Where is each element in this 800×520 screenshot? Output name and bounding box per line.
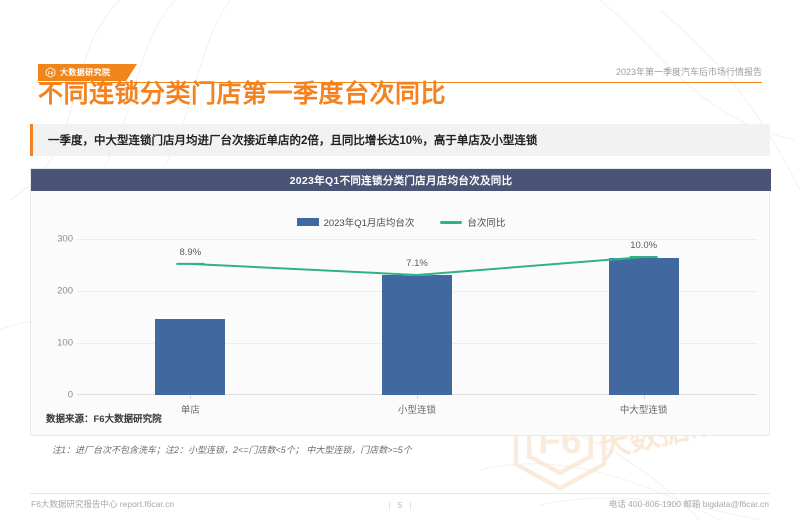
- chart-card: 2023年Q1不同连锁分类门店月店均台次及同比 2023年Q1月店均台次 台次同…: [30, 168, 770, 436]
- page-title: 不同连锁分类门店第一季度台次同比: [38, 74, 446, 110]
- footer-bar-left-icon: |: [388, 500, 390, 510]
- y-axis-tick-label: 200: [33, 286, 73, 297]
- subtitle-accent-bar: [30, 124, 33, 156]
- legend-swatch-line-icon: [440, 221, 462, 224]
- report-name: 2023年第一季度汽车后市场行情报告: [616, 65, 762, 78]
- x-axis-tick-label: 中大型连锁: [620, 402, 668, 416]
- footer-contact: 电话 400-806-1900 邮箱 bigdata@f6car.cn: [609, 498, 769, 510]
- legend-label-bar: 2023年Q1月店均台次: [324, 215, 415, 229]
- legend-swatch-bar-icon: [297, 218, 319, 226]
- x-tick-group: 中大型连锁: [530, 239, 757, 395]
- data-source: 数据来源：F6大数据研究院: [46, 411, 162, 425]
- chart-legend: 2023年Q1月店均台次 台次同比: [31, 215, 771, 229]
- header: F6 大数据研究院 2023年第一季度汽车后市场行情报告: [0, 28, 800, 60]
- page-number: 5: [398, 500, 403, 510]
- x-tick-mark: [644, 395, 645, 399]
- y-axis-tick-label: 300: [33, 234, 73, 245]
- x-tick-mark: [190, 395, 191, 399]
- chart-title: 2023年Q1不同连锁分类门店月店均台次及同比: [290, 173, 513, 188]
- chart-footnote: 注1：进厂台次不包含洗车；注2：小型连锁，2<=门店数<5个； 中大型连锁，门店…: [52, 443, 412, 456]
- footer-bar-right-icon: |: [409, 500, 411, 510]
- slide-page: F6 大数据 F6 大数据研究 F6 大数据研 大数据研 F6 大数据研究院 2…: [0, 0, 800, 520]
- footer-divider: [30, 493, 770, 494]
- y-axis-tick-label: 0: [33, 390, 73, 401]
- x-axis-tick-label: 单店: [181, 402, 200, 416]
- subtitle-text: 一季度，中大型连锁门店月均进厂台次接近单店的2倍，且同比增长达10%，高于单店及…: [48, 124, 537, 156]
- chart-title-bar: 2023年Q1不同连锁分类门店月店均台次及同比: [31, 169, 771, 191]
- legend-item-bar[interactable]: 2023年Q1月店均台次: [297, 215, 415, 229]
- chart-plot-area: 0100200300 8.9%7.1%10.0% 单店小型连锁中大型连锁: [77, 239, 757, 395]
- legend-label-line: 台次同比: [467, 215, 505, 229]
- x-axis-tick-label: 小型连锁: [398, 402, 436, 416]
- x-tick-group: 小型连锁: [304, 239, 531, 395]
- x-tick-mark: [417, 395, 418, 399]
- y-axis-tick-label: 100: [33, 338, 73, 349]
- legend-item-line[interactable]: 台次同比: [440, 215, 505, 229]
- subtitle-band: 一季度，中大型连锁门店月均进厂台次接近单店的2倍，且同比增长达10%，高于单店及…: [30, 124, 770, 156]
- x-tick-group: 单店: [77, 239, 304, 395]
